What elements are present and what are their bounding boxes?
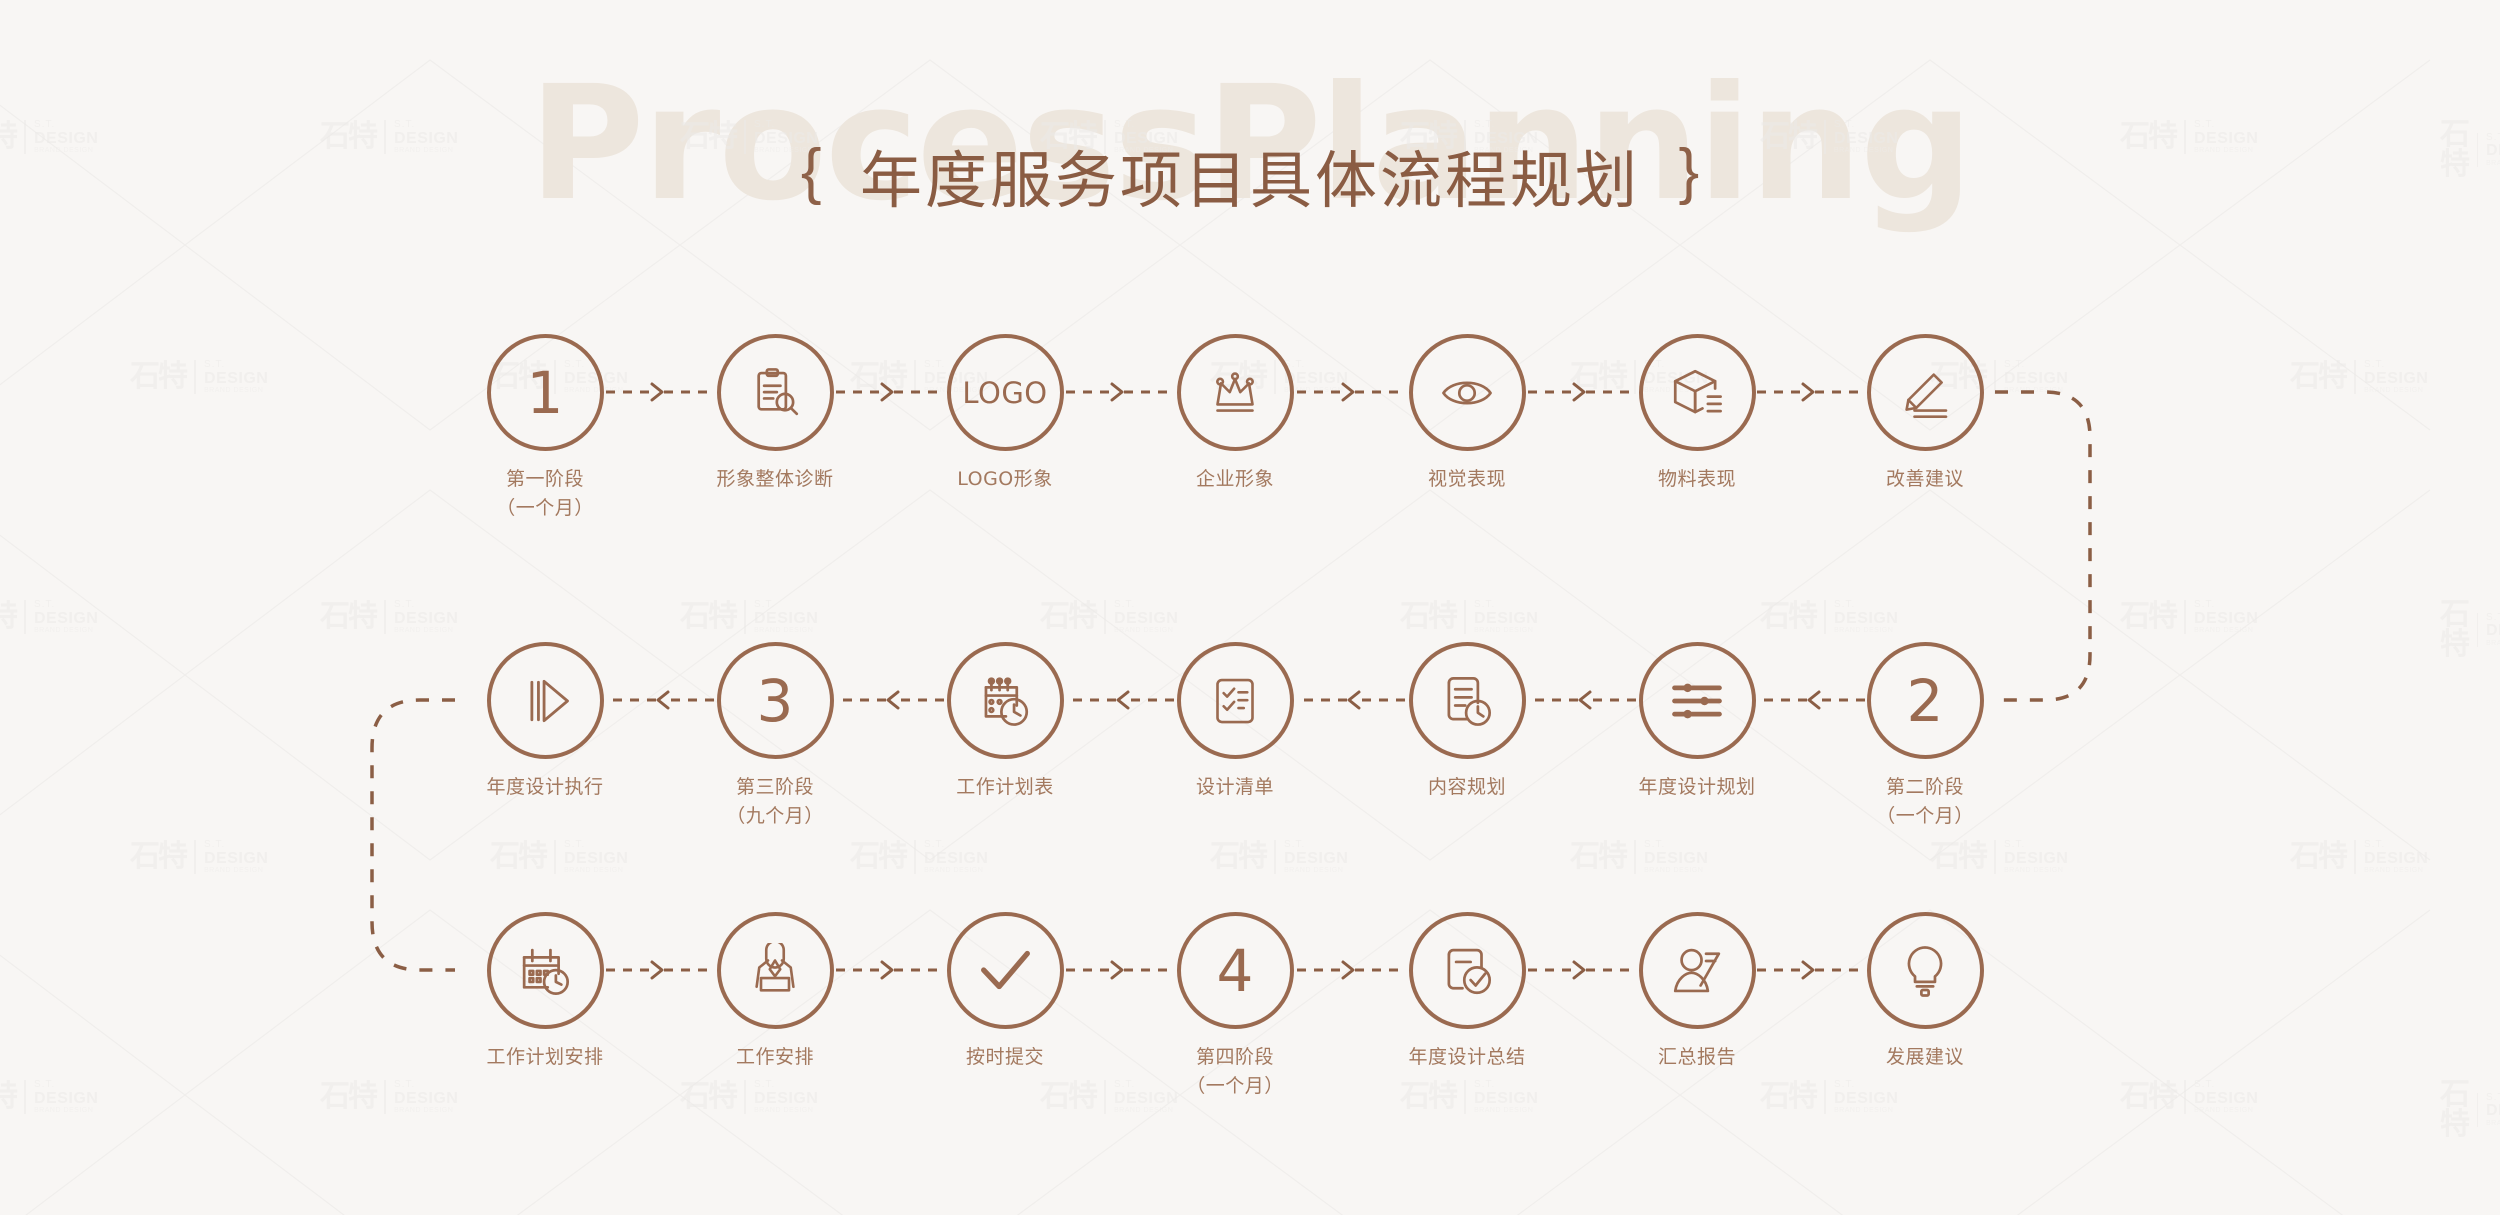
lightbulb-icon <box>1896 942 1954 1000</box>
play-execute-icon <box>515 671 575 731</box>
node-label: 汇总报告 <box>1607 1043 1787 1072</box>
number-3-icon: 3 <box>757 672 794 730</box>
node-label: 工作安排 <box>685 1043 865 1072</box>
node-label: 改善建议 <box>1835 465 2015 494</box>
number-1-icon: 1 <box>527 364 564 422</box>
node-circle[interactable] <box>1867 334 1984 451</box>
node-circle[interactable] <box>1177 642 1294 759</box>
node-label: 企业形象 <box>1145 465 1325 494</box>
node-circle[interactable] <box>487 912 604 1029</box>
flow-node[interactable]: 年度设计总结 <box>1377 912 1557 1072</box>
node-circle[interactable] <box>717 912 834 1029</box>
node-label: 年度设计执行 <box>455 773 635 802</box>
brace-left: { <box>801 136 822 207</box>
node-circle[interactable] <box>1177 334 1294 451</box>
page-title: 年度服务项目具体流程规划 <box>860 130 1640 220</box>
node-sublabel: （一个月） <box>1835 802 2015 831</box>
node-circle[interactable] <box>1867 912 1984 1029</box>
page-title-row: { 年度服务项目具体流程规划 } <box>0 130 2500 220</box>
node-label: 视觉表现 <box>1377 465 1557 494</box>
flow-node[interactable]: 工作安排 <box>685 912 865 1072</box>
number-2-icon: 2 <box>1907 672 1944 730</box>
flow-node[interactable]: 形象整体诊断 <box>685 334 865 494</box>
connector-left-curve <box>372 700 455 970</box>
number-4-icon: 4 <box>1217 942 1254 1000</box>
node-label: 工作计划安排 <box>455 1043 635 1072</box>
node-label: 形象整体诊断 <box>685 465 865 494</box>
worker-desk-icon <box>747 943 803 999</box>
clipboard-search-icon <box>746 364 804 422</box>
node-circle[interactable]: 1 <box>487 334 604 451</box>
node-circle[interactable] <box>1409 912 1526 1029</box>
node-label: 第二阶段（一个月） <box>1835 773 2015 832</box>
flow-node[interactable]: 工作计划安排 <box>455 912 635 1072</box>
brace-right: } <box>1678 136 1699 207</box>
flow-node[interactable]: 3第三阶段（九个月） <box>685 642 865 832</box>
node-circle[interactable] <box>487 642 604 759</box>
node-circle[interactable] <box>1409 642 1526 759</box>
logo-text-icon: LOGO <box>962 376 1047 410</box>
node-circle[interactable]: 3 <box>717 642 834 759</box>
node-circle[interactable] <box>717 334 834 451</box>
calendar-schedule-icon <box>516 942 574 1000</box>
node-circle[interactable] <box>1639 334 1756 451</box>
node-circle[interactable] <box>947 642 1064 759</box>
node-label: 内容规划 <box>1377 773 1557 802</box>
node-label: LOGO形象 <box>915 465 1095 494</box>
document-clock-icon <box>1438 672 1496 730</box>
node-circle[interactable] <box>1639 912 1756 1029</box>
node-sublabel: （九个月） <box>685 802 865 831</box>
package-box-icon <box>1668 364 1726 422</box>
flow-node[interactable]: 按时提交 <box>915 912 1095 1072</box>
flow-node[interactable]: 年度设计执行 <box>455 642 635 802</box>
node-label: 年度设计总结 <box>1377 1043 1557 1072</box>
flow-node[interactable]: 视觉表现 <box>1377 334 1557 494</box>
flow-node[interactable]: 改善建议 <box>1835 334 2015 494</box>
pen-write-icon <box>1897 365 1953 421</box>
flow-node[interactable]: 设计清单 <box>1145 642 1325 802</box>
node-label: 发展建议 <box>1835 1043 2015 1072</box>
crown-icon <box>1207 365 1263 421</box>
node-sublabel: （一个月） <box>455 494 635 523</box>
node-label: 第三阶段（九个月） <box>685 773 865 832</box>
node-sublabel: （一个月） <box>1145 1072 1325 1101</box>
node-label: 物料表现 <box>1607 465 1787 494</box>
flow-node[interactable]: 汇总报告 <box>1607 912 1787 1072</box>
node-circle[interactable] <box>947 912 1064 1029</box>
flow-node[interactable]: 年度设计规划 <box>1607 642 1787 802</box>
eye-icon <box>1438 364 1496 422</box>
node-label: 第四阶段（一个月） <box>1145 1043 1325 1102</box>
node-circle[interactable]: 2 <box>1867 642 1984 759</box>
node-label: 按时提交 <box>915 1043 1095 1072</box>
checklist-icon <box>1207 673 1263 729</box>
flow-node[interactable]: 企业形象 <box>1145 334 1325 494</box>
check-mark-icon <box>974 940 1036 1002</box>
node-label: 第一阶段（一个月） <box>455 465 635 524</box>
document-approved-icon <box>1438 942 1496 1000</box>
node-circle[interactable]: LOGO <box>947 334 1064 451</box>
flow-node[interactable]: 物料表现 <box>1607 334 1787 494</box>
node-circle[interactable] <box>1639 642 1756 759</box>
flow-node[interactable]: 发展建议 <box>1835 912 2015 1072</box>
flow-node[interactable]: 2第二阶段（一个月） <box>1835 642 2015 832</box>
calendar-clock-icon <box>976 672 1034 730</box>
node-circle[interactable] <box>1409 334 1526 451</box>
person-report-icon <box>1668 942 1726 1000</box>
flow-node[interactable]: LOGOLOGO形象 <box>915 334 1095 494</box>
flow-node[interactable]: 1第一阶段（一个月） <box>455 334 635 524</box>
sliders-icon <box>1667 671 1727 731</box>
node-label: 工作计划表 <box>915 773 1095 802</box>
flow-node[interactable]: 4第四阶段（一个月） <box>1145 912 1325 1102</box>
flow-node[interactable]: 内容规划 <box>1377 642 1557 802</box>
node-label: 设计清单 <box>1145 773 1325 802</box>
node-label: 年度设计规划 <box>1607 773 1787 802</box>
flow-node[interactable]: 工作计划表 <box>915 642 1095 802</box>
node-circle[interactable]: 4 <box>1177 912 1294 1029</box>
